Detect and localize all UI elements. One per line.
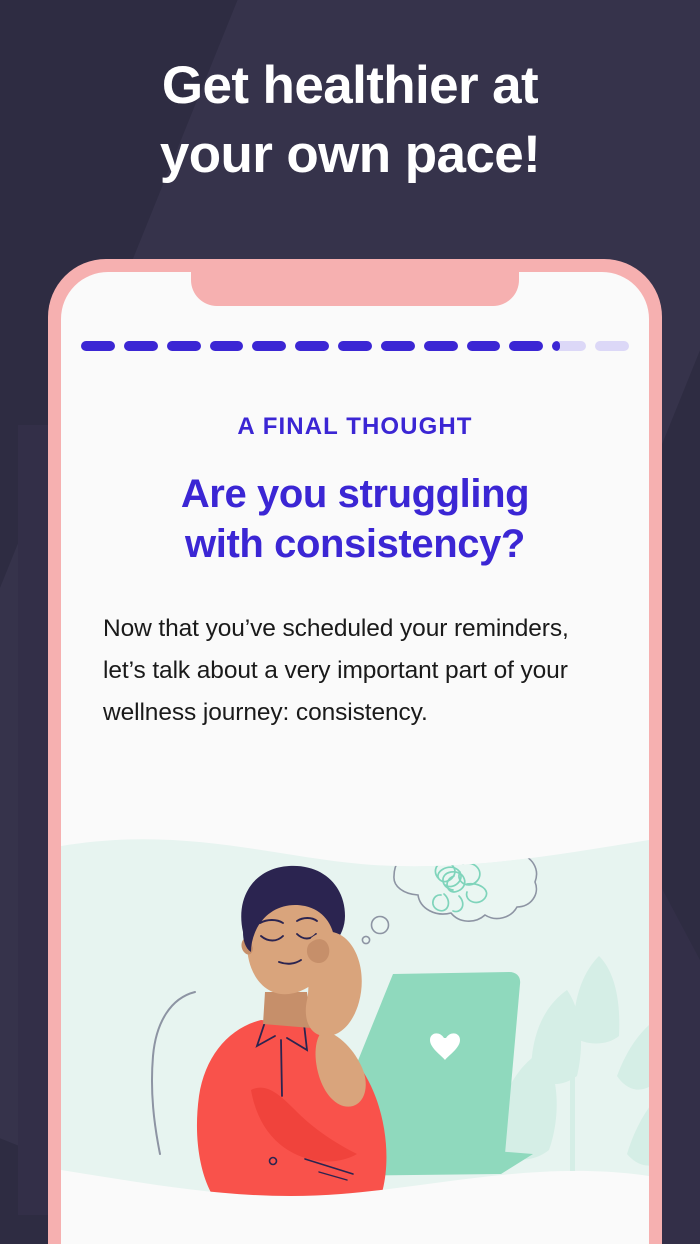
progress-segment: [467, 341, 501, 351]
progress-segment: [252, 341, 286, 351]
screen-heading-line-1: Are you struggling: [85, 469, 625, 519]
progress-segment-fill: [552, 341, 559, 351]
phone-notch-icon: [191, 272, 519, 306]
promo-screenshot: Get healthier at your own pace! A FINAL …: [0, 0, 700, 1244]
illustration-frustrated-man-at-laptop: [61, 824, 649, 1224]
progress-segment: [424, 341, 458, 351]
progress-segment: [210, 341, 244, 351]
promo-headline: Get healthier at your own pace!: [0, 52, 700, 190]
shirt-placket: [281, 1040, 282, 1096]
screen-body-text: Now that you’ve scheduled your reminders…: [61, 608, 649, 734]
progress-segment: [509, 341, 543, 351]
progress-segment: [124, 341, 158, 351]
phone-screen: A FINAL THOUGHT Are you struggling with …: [61, 272, 649, 1244]
progress-segment: [167, 341, 201, 351]
phone-mockup: A FINAL THOUGHT Are you struggling with …: [48, 259, 662, 1244]
promo-headline-line-2: your own pace!: [0, 121, 700, 190]
progress-segment: [295, 341, 329, 351]
progress-segment: [338, 341, 372, 351]
progress-segment: [381, 341, 415, 351]
section-eyebrow: A FINAL THOUGHT: [61, 413, 649, 441]
person-neck: [263, 992, 311, 1028]
progress-segment: [595, 341, 629, 351]
progress-segment: [81, 341, 115, 351]
progress-indicator[interactable]: [81, 341, 629, 351]
screen-heading-line-2: with consistency?: [85, 519, 625, 569]
screen-heading: Are you struggling with consistency?: [61, 469, 649, 570]
progress-segment: [552, 341, 586, 351]
promo-headline-line-1: Get healthier at: [0, 52, 700, 121]
